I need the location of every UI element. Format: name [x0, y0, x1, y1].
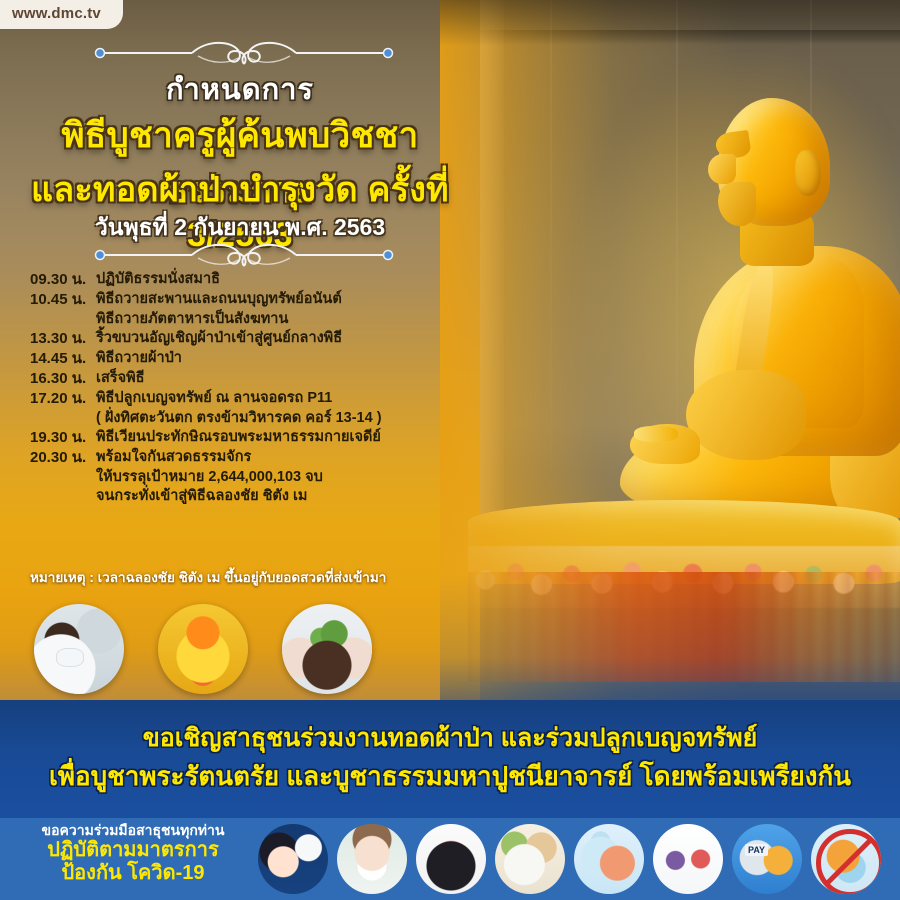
statue-nose	[708, 154, 736, 184]
poster-canvas: www.dmc.tv กำหนดการ พิธีบูชาครูผู้ค้นพบว…	[0, 0, 900, 900]
photo-hands-holding-sapling	[282, 604, 372, 694]
schedule-time: 17.20 น.	[30, 391, 96, 406]
schedule-desc: พิธีปลูกเบญจทรัพย์ ณ ลานจอดรถ P11 ( ฝั่ง…	[96, 391, 470, 425]
ornament-divider-top	[88, 38, 400, 68]
photo-circle-row	[30, 604, 470, 700]
schedule-time: 10.45 น.	[30, 292, 96, 307]
schedule-time: 20.30 น.	[30, 450, 96, 465]
schedule-time: 13.30 น.	[30, 331, 96, 346]
invitation-line2: เพื่อบูชาพระรัตนตรัย และบูชาธรรมมหาปูชนี…	[0, 756, 900, 797]
schedule-row: 20.30 น. พร้อมใจกันสวดธรรมจักร ให้บรรลุเ…	[30, 450, 470, 504]
schedule-desc-sub: พิธีถวายภัตตาหารเป็นสังฆทาน	[96, 312, 470, 327]
page-kicker: กำหนดการ	[0, 66, 480, 112]
photo-fill	[282, 604, 372, 694]
schedule-row: 10.45 น. พิธีถวายสะพานและถนนบุญทรัพย์อนั…	[30, 292, 470, 326]
schedule-list: 09.30 น. ปฏิบัติธรรมนั่งสมาธิ 10.45 น. พ…	[30, 272, 470, 509]
wash-hands-icon	[574, 824, 644, 894]
schedule-row: 19.30 น. พิธีเวียนประทักษิณรอบพระมหาธรรม…	[30, 430, 470, 445]
invitation-line1: ขอเชิญสาธุชนร่วมงานทอดผ้าป่า และร่วมปลูก…	[0, 718, 900, 758]
statue-toes	[634, 426, 678, 442]
covid-icon-row: PAY	[258, 824, 894, 894]
schedule-desc-sub2: จนกระทั่งเข้าสู่พิธีฉลองชัย ชิตัง เม	[96, 489, 470, 504]
serving-spoon-icon	[495, 824, 565, 894]
schedule-time: 09.30 น.	[30, 272, 96, 287]
schedule-row: 17.20 น. พิธีปลูกเบญจทรัพย์ ณ ลานจอดรถ P…	[30, 391, 470, 425]
schedule-note: หมายเหตุ : เวลาฉลองชัย ชิตัง เม ขึ้นอยู่…	[30, 566, 480, 588]
divider-dot	[96, 49, 105, 58]
schedule-desc: ริ้วขบวนอัญเชิญผ้าป่าเข้าสู่ศูนย์กลางพิธ…	[96, 331, 470, 346]
schedule-row: 13.30 น. ริ้วขบวนอัญเชิญผ้าป่าเข้าสู่ศูน…	[30, 331, 470, 346]
divider-dot	[384, 49, 393, 58]
prohibition-sign-icon	[816, 829, 881, 894]
photo-volunteer-masked-woman	[34, 604, 124, 694]
schedule-row: 16.30 น. เสร็จพิธี	[30, 371, 470, 386]
no-gathering-icon	[811, 824, 881, 894]
schedule-row: 14.45 น. พิธีถวายผ้าป่า	[30, 351, 470, 366]
statue-chin	[718, 182, 756, 226]
cashless-payment-icon: PAY	[732, 824, 802, 894]
golden-monk-statue-icon	[590, 70, 900, 530]
wall-pillar	[480, 0, 504, 560]
schedule-time: 19.30 น.	[30, 430, 96, 445]
site-url-badge[interactable]: www.dmc.tv	[0, 0, 123, 29]
covid-line1: ขอความร่วมมือสาธุชนทุกท่าน	[8, 822, 258, 839]
invitation-banner: ขอเชิญสาธุชนร่วมงานทอดผ้าป่า และร่วมปลูก…	[0, 700, 900, 818]
divider-dot	[384, 251, 393, 260]
covid-measures-strip: ขอความร่วมมือสาธุชนทุกท่าน ปฏิบัติตามมาต…	[0, 818, 900, 900]
schedule-row: 09.30 น. ปฏิบัติธรรมนั่งสมาธิ	[30, 272, 470, 287]
temperature-check-icon	[258, 824, 328, 894]
statue-ear	[795, 150, 821, 196]
red-altar-cloth	[468, 572, 900, 682]
hot-food-icon	[416, 824, 486, 894]
schedule-desc-main: พิธีถวายสะพานและถนนบุญทรัพย์อนันต์	[96, 291, 342, 307]
divider-dot	[96, 251, 105, 260]
face-mask-detail	[56, 648, 84, 667]
poster-content-column: กำหนดการ พิธีบูชาครูผู้ค้นพบวิชชาธรรมกาย…	[0, 0, 480, 730]
schedule-time: 14.45 น.	[30, 351, 96, 366]
pay-terminal-label: PAY	[745, 844, 768, 856]
schedule-desc: ปฏิบัติธรรมนั่งสมาธิ	[96, 272, 470, 287]
wear-mask-icon	[337, 824, 407, 894]
schedule-desc-sub: ( ฝั่งทิศตะวันตก ตรงข้ามวิหารคด คอร์ 13-…	[96, 411, 470, 426]
statue-arm	[686, 370, 806, 460]
schedule-desc: พิธีถวายผ้าป่า	[96, 351, 470, 366]
photo-offering-tray-ceremony	[158, 604, 248, 694]
covid-line2: ปฏิบัติตามมาตรการ	[8, 839, 258, 863]
schedule-desc-main: พร้อมใจกันสวดธรรมจักร	[96, 449, 251, 465]
covid-line3: ป้องกัน โควิด-19	[8, 862, 258, 886]
wall-band	[480, 30, 900, 44]
photo-fill	[158, 604, 248, 694]
schedule-desc-sub: ให้บรรลุเป้าหมาย 2,644,000,103 จบ	[96, 470, 470, 485]
schedule-desc: พร้อมใจกันสวดธรรมจักร ให้บรรลุเป้าหมาย 2…	[96, 450, 470, 504]
wall-seam	[550, 0, 552, 470]
schedule-desc: พิธีเวียนประทักษิณรอบพระมหาธรรมกายเจดีย์	[96, 430, 470, 445]
schedule-time: 16.30 น.	[30, 371, 96, 386]
schedule-desc: เสร็จพิธี	[96, 371, 470, 386]
covid-text-block: ขอความร่วมมือสาธุชนทุกท่าน ปฏิบัติตามมาต…	[8, 822, 258, 886]
schedule-desc-main: พิธีปลูกเบญจทรัพย์ ณ ลานจอดรถ P11	[96, 390, 332, 406]
schedule-desc: พิธีถวายสะพานและถนนบุญทรัพย์อนันต์ พิธีถ…	[96, 292, 470, 326]
ornament-divider-bottom	[88, 240, 400, 270]
social-distancing-icon	[653, 824, 723, 894]
